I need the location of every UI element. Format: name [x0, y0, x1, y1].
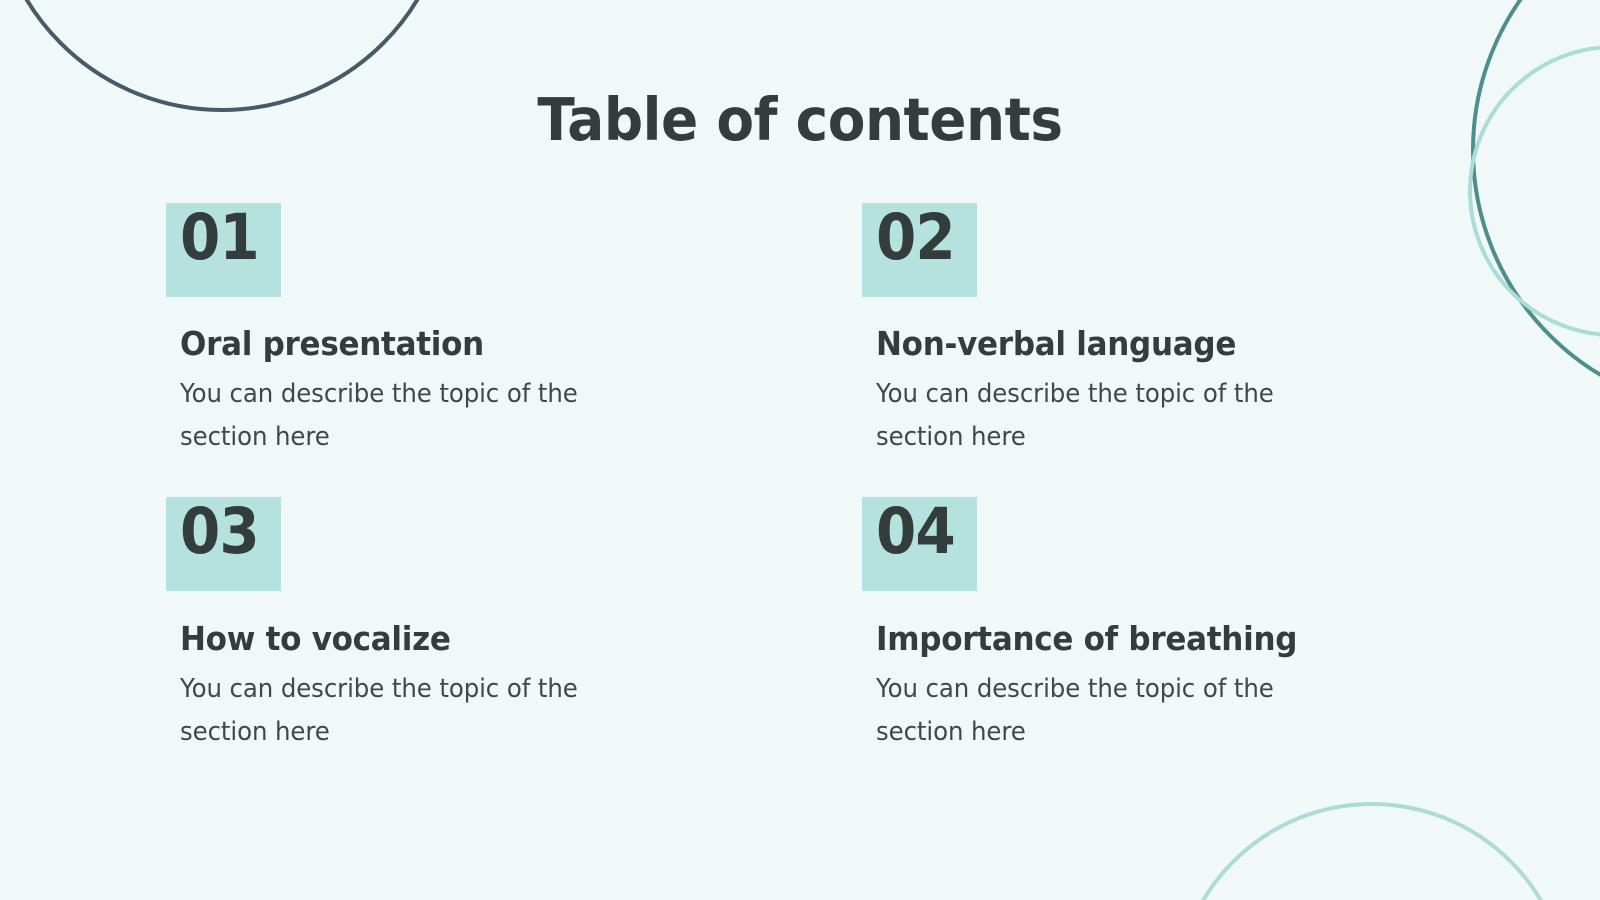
toc-item-description: You can describe the topic of the sectio… — [180, 668, 650, 754]
number-badge-03: 03 — [166, 497, 281, 591]
bottom-right-circle-outline-icon — [1176, 804, 1568, 900]
top-right-large-circle-outline-icon — [1473, 0, 1600, 412]
number-badge-04: 04 — [862, 497, 977, 591]
toc-item-description: You can describe the topic of the sectio… — [876, 373, 1346, 459]
number-badge-02: 02 — [862, 203, 977, 297]
page-title: Table of contents — [56, 88, 1544, 153]
toc-item-heading: Non-verbal language — [876, 324, 1440, 364]
toc-item-01[interactable]: 01 Oral presentation You can describe th… — [166, 203, 862, 497]
number-badge-label: 02 — [876, 201, 955, 275]
number-badge-label: 04 — [876, 495, 955, 569]
slide-canvas: Table of contents 01 Oral presentation Y… — [0, 0, 1600, 900]
toc-item-04[interactable]: 04 Importance of breathing You can descr… — [862, 497, 1476, 754]
number-badge-01: 01 — [166, 203, 281, 297]
toc-item-03[interactable]: 03 How to vocalize You can describe the … — [166, 497, 862, 754]
toc-item-heading: Oral presentation — [180, 324, 821, 364]
number-badge-label: 01 — [180, 201, 259, 275]
toc-item-02[interactable]: 02 Non-verbal language You can describe … — [862, 203, 1476, 497]
toc-item-heading: Importance of breathing — [876, 619, 1440, 659]
toc-item-description: You can describe the topic of the sectio… — [180, 373, 650, 459]
toc-item-description: You can describe the topic of the sectio… — [876, 668, 1346, 754]
number-badge-label: 03 — [180, 495, 259, 569]
toc-item-heading: How to vocalize — [180, 619, 821, 659]
table-of-contents-grid: 01 Oral presentation You can describe th… — [166, 203, 1476, 754]
